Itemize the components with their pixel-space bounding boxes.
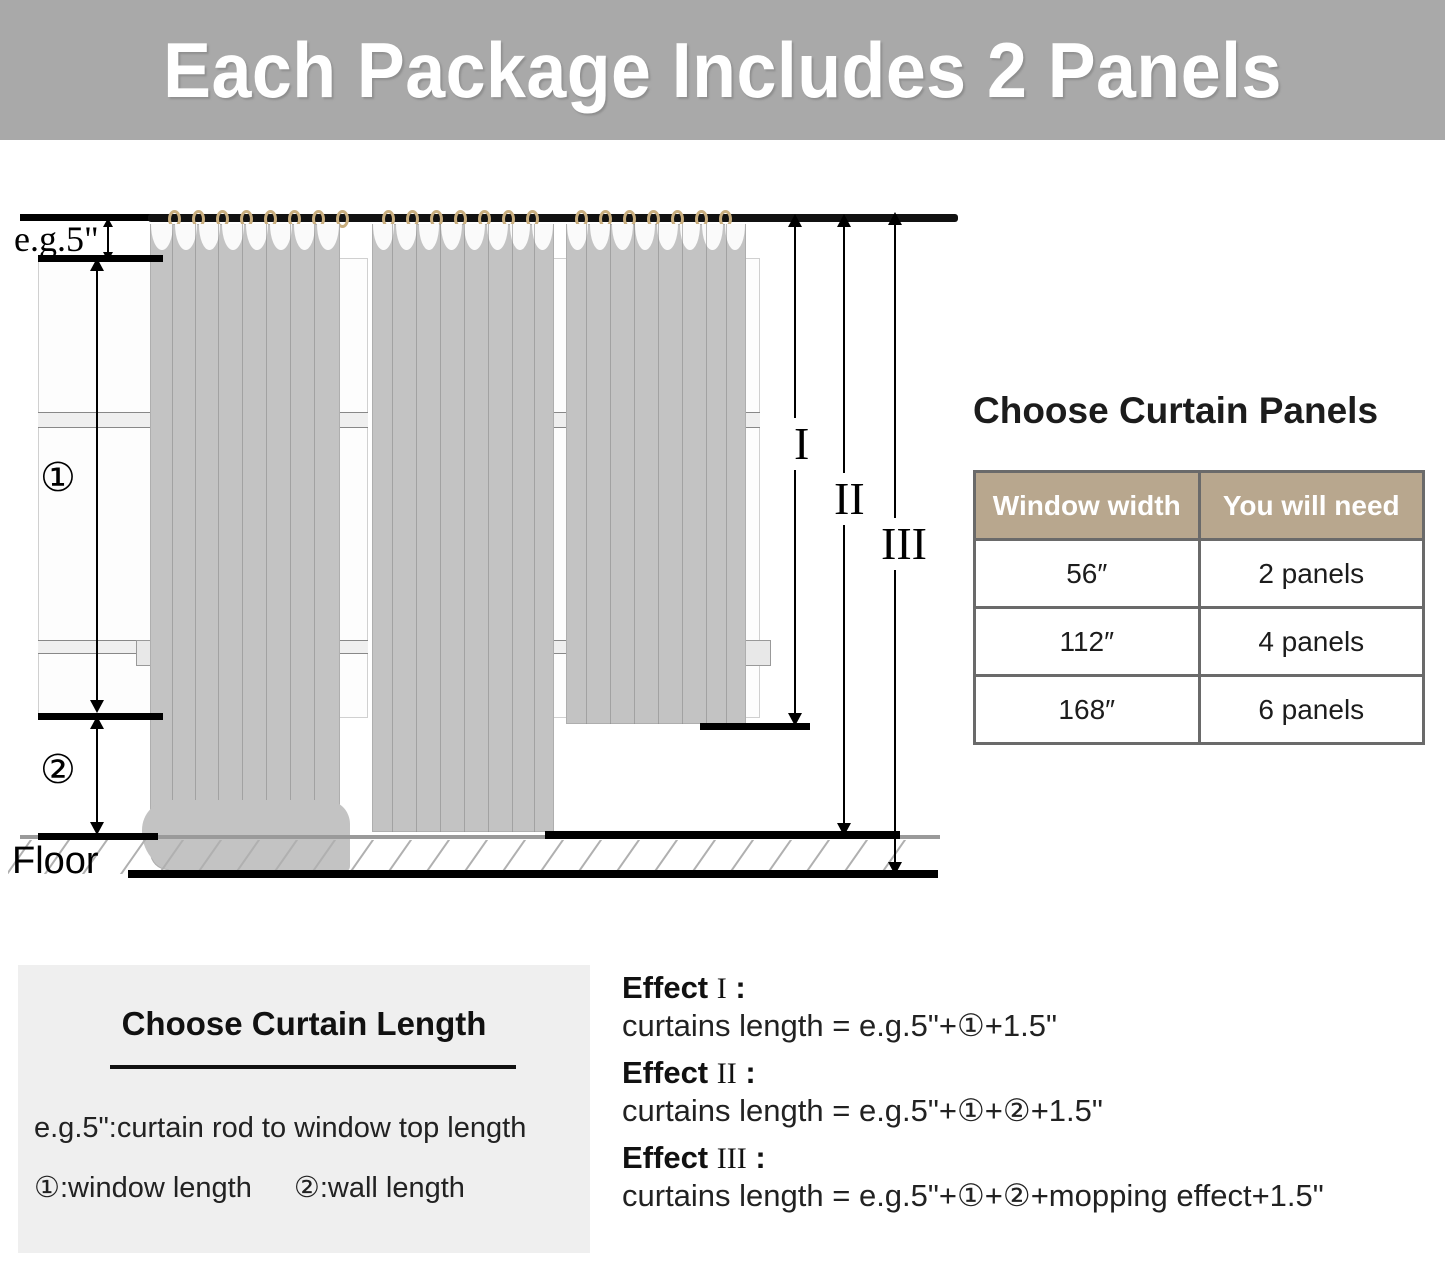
window-length-arrow-up [90, 258, 104, 271]
table-row: 168″ 6 panels [975, 676, 1424, 744]
eg5-label: e.g.5" [14, 218, 99, 260]
window-length-arrow-down [90, 700, 104, 713]
curtain-panel-short [566, 224, 746, 724]
curtain-header-scallops [372, 224, 554, 250]
banner-title: Each Package Includes 2 Panels [58, 0, 1387, 140]
effect-one-arrow-up [788, 214, 802, 227]
effect-three-numeral: III [717, 1142, 747, 1175]
effect-formulas-section: Effect I : curtains length = e.g.5"+①+1.… [622, 970, 1437, 1225]
legend-window-length: ①:window length [34, 1172, 252, 1204]
effect-two-marker: II [828, 473, 871, 525]
effect-two-formula: curtains length = e.g.5"+①+②+1.5" [622, 1093, 1437, 1129]
curtain-diagram: e.g.5" ① ② Floor I II III [0, 140, 960, 930]
curtain-header-scallops [566, 224, 746, 250]
header-banner: Each Package Includes 2 Panels [0, 0, 1445, 140]
choose-curtain-length-box: Choose Curtain Length e.g.5":curtain rod… [18, 965, 590, 1253]
effect-one-colon: : [735, 970, 745, 1005]
effect-three-label: Effect [622, 1140, 708, 1175]
floor-hatching [8, 840, 938, 874]
cell-panels-needed: 2 panels [1199, 540, 1424, 608]
window-handle-right [745, 640, 771, 666]
cell-window-width: 112″ [975, 608, 1200, 676]
effect-three-formula: curtains length = e.g.5"+①+②+mopping eff… [622, 1178, 1437, 1214]
length-box-divider [110, 1065, 516, 1069]
length-box-title: Choose Curtain Length [18, 1005, 590, 1043]
column-header-window-width: Window width [975, 472, 1200, 540]
effect-three-arrow-down [888, 862, 902, 875]
table-header-row: Window width You will need [975, 472, 1424, 540]
effect-one-title: Effect I : [622, 970, 1437, 1006]
legend-wall-length: ②:wall length [294, 1172, 465, 1204]
effect-two-colon: : [745, 1055, 755, 1090]
cell-panels-needed: 6 panels [1199, 676, 1424, 744]
panels-table: Window width You will need 56″ 2 panels … [973, 470, 1425, 745]
effect-two-arrow-down [837, 823, 851, 836]
window-length-dim-line [96, 268, 98, 708]
effect-three-colon: : [755, 1140, 765, 1175]
panels-table-title: Choose Curtain Panels [973, 390, 1428, 432]
floor-baseline [128, 870, 938, 878]
wall-length-arrow-down [90, 822, 104, 835]
eg5-arrow-up [103, 218, 113, 227]
length-legend-eg5: e.g.5":curtain rod to window top length [34, 1112, 594, 1145]
curtain-header-scallops [150, 224, 340, 250]
effect-one-formula: curtains length = e.g.5"+①+1.5" [622, 1008, 1437, 1044]
effect-two-dim-line [843, 224, 845, 834]
effect-one-numeral: I [717, 972, 727, 1005]
effect-one-label: Effect [622, 970, 708, 1005]
effect-one-marker: I [788, 418, 815, 470]
window-length-marker: ① [40, 458, 76, 498]
floor-label: Floor [12, 840, 99, 883]
choose-curtain-panels-section: Choose Curtain Panels Window width You w… [973, 390, 1428, 745]
effect-two-label: Effect [622, 1055, 708, 1090]
curtain-panel-medium [372, 224, 554, 832]
effect-one-arrow-down [788, 713, 802, 726]
table-row: 112″ 4 panels [975, 608, 1424, 676]
effect-two-title: Effect II : [622, 1055, 1437, 1091]
effect-three-marker: III [875, 518, 933, 570]
effect-three-arrow-up [888, 212, 902, 225]
cell-window-width: 168″ [975, 676, 1200, 744]
effect-two-numeral: II [717, 1057, 737, 1090]
wall-length-arrow-up [90, 716, 104, 729]
effect-one-dim-line [794, 224, 796, 724]
wall-length-marker: ② [40, 750, 76, 790]
wall-length-dim-line [96, 726, 98, 830]
curtain-panel-long [150, 224, 340, 870]
cell-panels-needed: 4 panels [1199, 608, 1424, 676]
eg5-arrow-down [103, 252, 113, 261]
column-header-you-will-need: You will need [1199, 472, 1424, 540]
length-legend-markers: ①:window length②:wall length [34, 1170, 594, 1205]
effect-three-title: Effect III : [622, 1140, 1437, 1176]
cell-window-width: 56″ [975, 540, 1200, 608]
effect-two-arrow-up [837, 214, 851, 227]
table-row: 56″ 2 panels [975, 540, 1424, 608]
